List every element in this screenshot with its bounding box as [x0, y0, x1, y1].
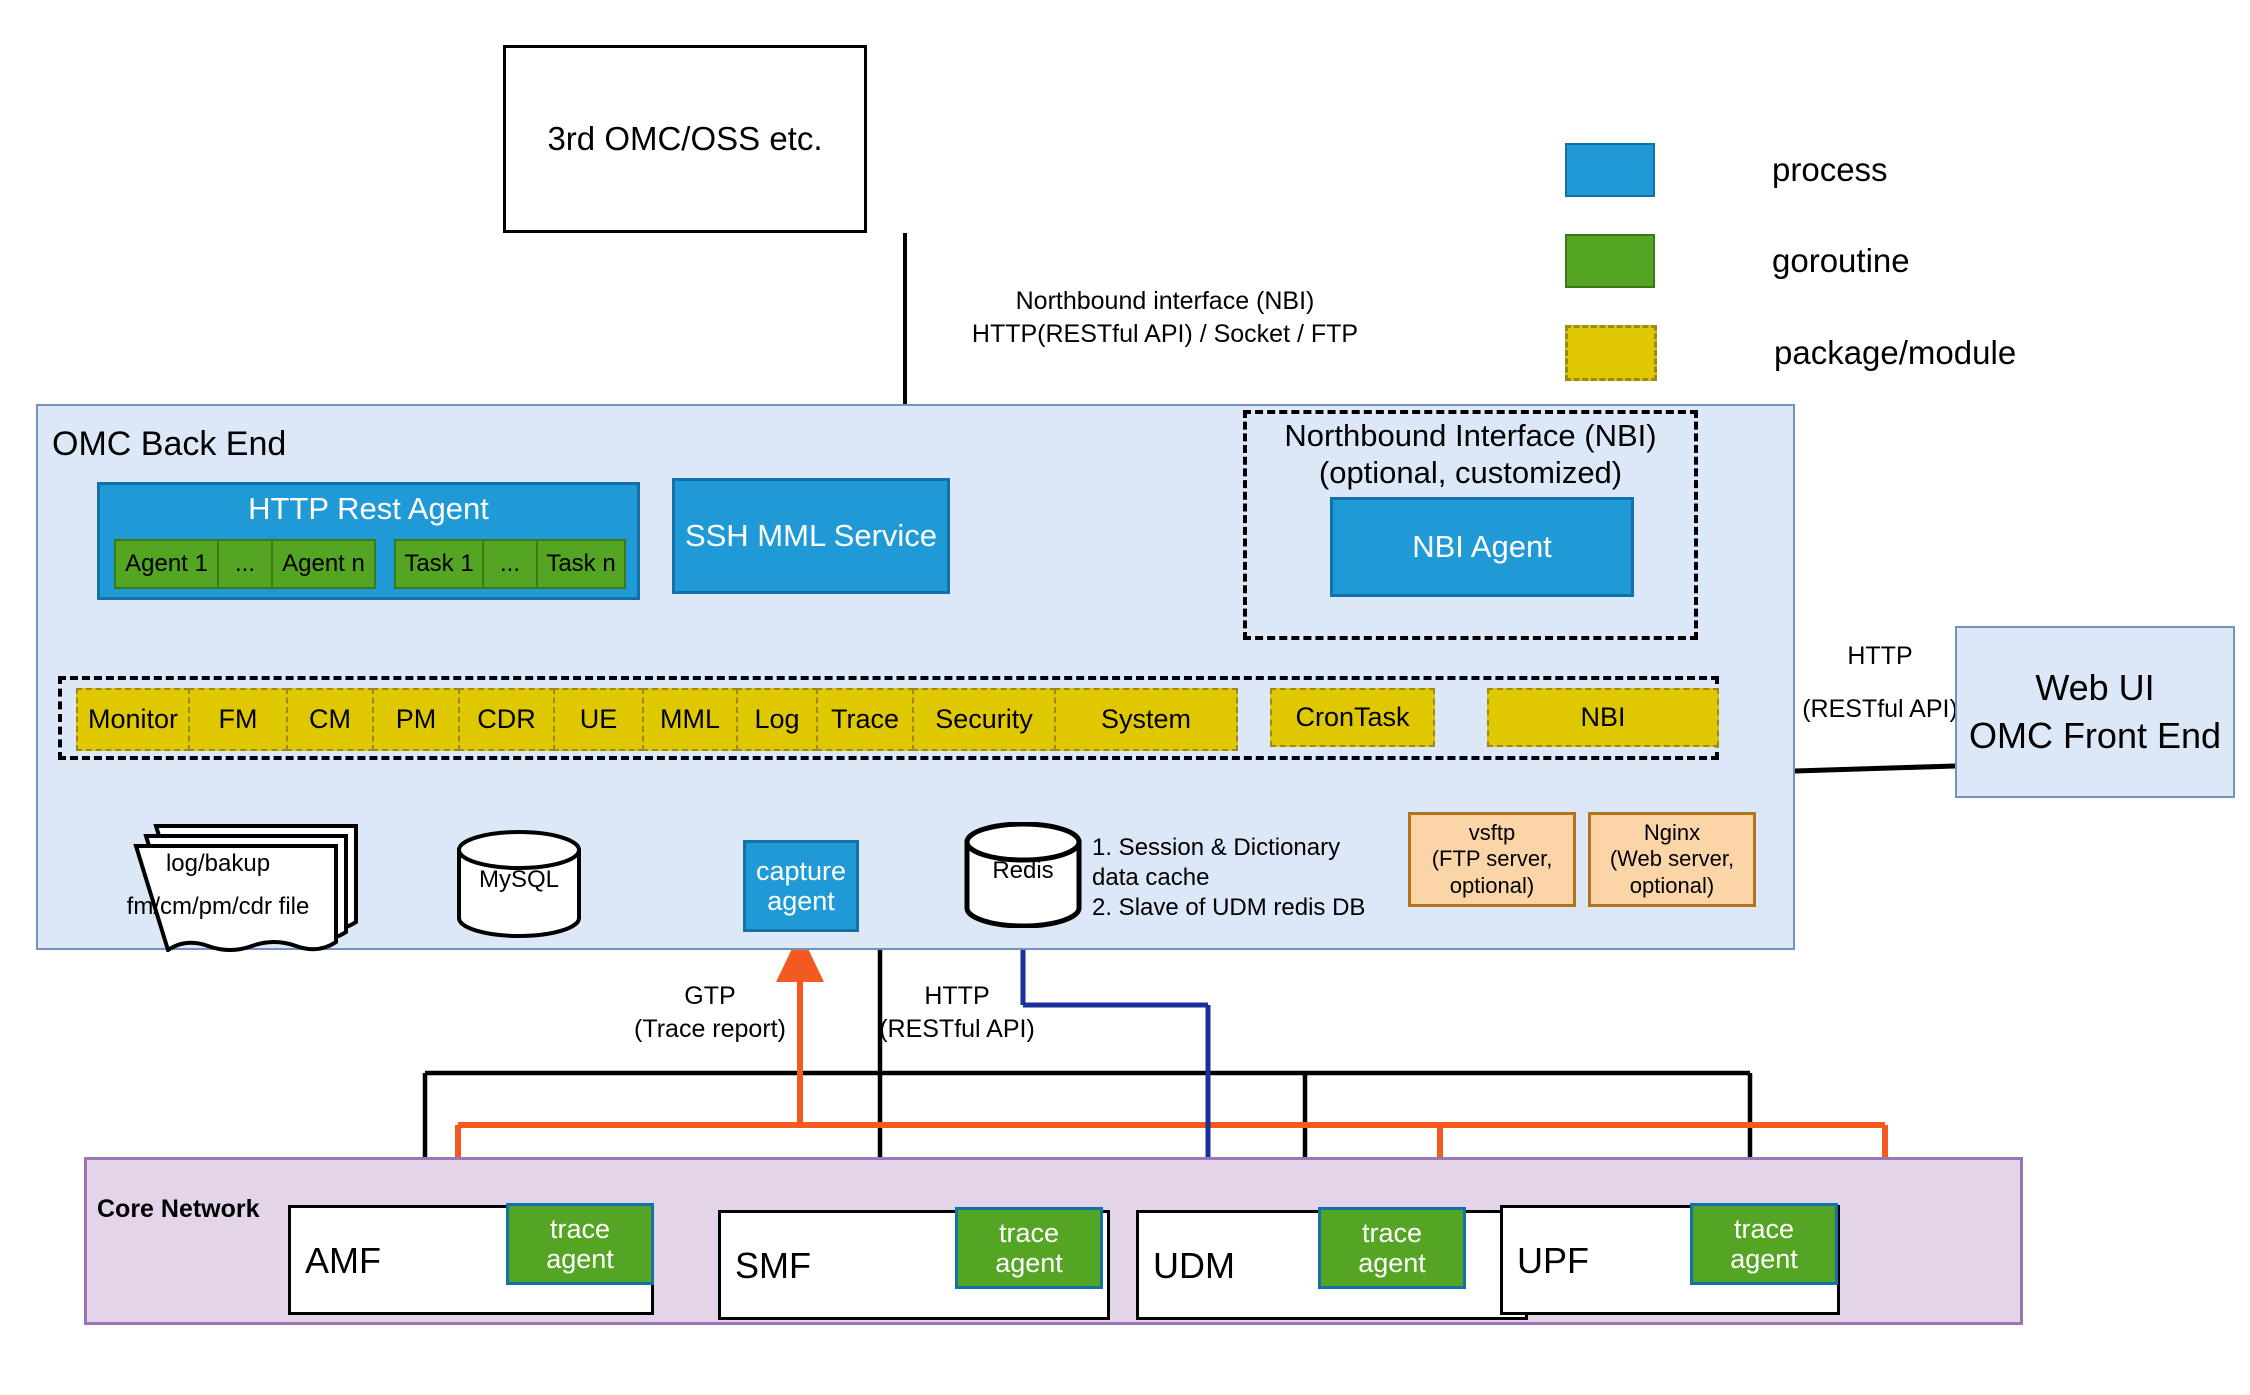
- external-oss-label: 3rd OMC/OSS etc.: [547, 120, 822, 158]
- http-rest-agent-groups: Agent 1 ... Agent n Task 1 ... Task n: [114, 539, 626, 589]
- web-ui-line2: OMC Front End: [1969, 715, 2221, 757]
- module-log[interactable]: Log: [736, 688, 818, 751]
- agent-item: ...: [217, 539, 273, 589]
- trace-agent-line1: trace: [550, 1214, 610, 1244]
- frontend-link-label: HTTP (RESTful API): [1800, 640, 1960, 725]
- frontend-link-line1: HTTP: [1800, 640, 1960, 673]
- legend-label-module: package/module: [1774, 334, 2016, 372]
- core-network-title: Core Network: [97, 1195, 260, 1224]
- module-crontask[interactable]: CronTask: [1270, 688, 1435, 747]
- nf-upf-label: UPF: [1517, 1240, 1589, 1282]
- nginx-desc2: optional): [1630, 873, 1714, 899]
- nbi-agent-box: NBI Agent: [1330, 497, 1634, 597]
- module-fm[interactable]: FM: [188, 688, 288, 751]
- http-rest-agent-box: HTTP Rest Agent Agent 1 ... Agent n Task…: [97, 482, 640, 600]
- http-link-label: HTTP (RESTful API): [862, 980, 1052, 1045]
- task-item: Task n: [536, 539, 626, 589]
- redis-note-line1: 1. Session & Dictionary: [1092, 833, 1402, 863]
- legend-item-goroutine: goroutine: [1565, 234, 2016, 288]
- module-security[interactable]: Security: [912, 688, 1056, 751]
- trace-agent-line2: agent: [995, 1248, 1063, 1278]
- trace-agent-line1: trace: [1734, 1214, 1794, 1244]
- gtp-line2: (Trace report): [620, 1013, 800, 1046]
- mysql-label: MySQL: [455, 866, 583, 894]
- trace-agent-line2: agent: [1358, 1248, 1426, 1278]
- task-item: ...: [482, 539, 538, 589]
- redis-label: Redis: [963, 857, 1083, 885]
- http-rest-agent-title: HTTP Rest Agent: [100, 485, 637, 533]
- trace-agent-line2: agent: [546, 1244, 614, 1274]
- agent-item: Agent n: [271, 539, 376, 589]
- module-pm[interactable]: PM: [372, 688, 460, 751]
- module-nbi[interactable]: NBI: [1487, 688, 1719, 747]
- redis-note-line2: data cache: [1092, 863, 1402, 893]
- web-ui-line1: Web UI: [2035, 667, 2154, 709]
- task-item: Task 1: [394, 539, 484, 589]
- nf-udm-label: UDM: [1153, 1245, 1235, 1287]
- frontend-link-line2: (RESTful API): [1800, 693, 1960, 726]
- web-ui-frontend-box: Web UI OMC Front End: [1955, 626, 2235, 798]
- capture-agent-box: capture agent: [743, 840, 859, 932]
- redis-note-line3: 2. Slave of UDM redis DB: [1092, 893, 1402, 923]
- omc-backend-title: OMC Back End: [52, 425, 286, 464]
- http-line1: HTTP: [862, 980, 1052, 1013]
- agent-group: Agent 1 ... Agent n: [114, 539, 376, 589]
- module-cdr[interactable]: CDR: [458, 688, 555, 751]
- ssh-mml-service-box: SSH MML Service: [672, 478, 950, 594]
- module-mml[interactable]: MML: [642, 688, 738, 751]
- task-group: Task 1 ... Task n: [394, 539, 626, 589]
- vsftp-box: vsftp (FTP server, optional): [1408, 812, 1576, 907]
- legend-item-module: package/module: [1565, 325, 2016, 381]
- capture-agent-line1: capture: [756, 856, 846, 886]
- nginx-name: Nginx: [1644, 820, 1700, 846]
- nbi-group-title-line2: (optional, customized): [1243, 455, 1698, 491]
- nbi-link-line2: HTTP(RESTful API) / Socket / FTP: [905, 318, 1425, 351]
- gtp-line1: GTP: [620, 980, 800, 1013]
- legend-item-process: process: [1565, 143, 2016, 197]
- trace-agent-line1: trace: [999, 1218, 1059, 1248]
- log-backup-line2: fm/cm/pm/cdr file: [90, 893, 346, 921]
- trace-agent-line1: trace: [1362, 1218, 1422, 1248]
- module-ue[interactable]: UE: [553, 688, 644, 751]
- log-backup-doc-stack: [130, 812, 390, 952]
- nbi-link-line1: Northbound interface (NBI): [905, 285, 1425, 318]
- trace-agent-smf: trace agent: [955, 1207, 1103, 1289]
- trace-agent-amf: trace agent: [506, 1203, 654, 1285]
- agent-item: Agent 1: [114, 539, 219, 589]
- nf-amf-label: AMF: [305, 1240, 381, 1282]
- nginx-box: Nginx (Web server, optional): [1588, 812, 1756, 907]
- trace-agent-line2: agent: [1730, 1244, 1798, 1274]
- capture-agent-line2: agent: [767, 886, 835, 916]
- nginx-desc1: (Web server,: [1610, 846, 1734, 872]
- legend-label-goroutine: goroutine: [1772, 242, 1910, 280]
- legend-swatch-process: [1565, 143, 1655, 197]
- http-line2: (RESTful API): [862, 1013, 1052, 1046]
- legend: process goroutine package/module: [1565, 143, 2016, 381]
- legend-swatch-goroutine: [1565, 234, 1655, 288]
- module-system[interactable]: System: [1054, 688, 1238, 751]
- log-backup-line1: log/bakup: [108, 850, 328, 878]
- trace-agent-udm: trace agent: [1318, 1207, 1466, 1289]
- nbi-group-title-line1: Northbound Interface (NBI): [1243, 418, 1698, 454]
- redis-note: 1. Session & Dictionary data cache 2. Sl…: [1092, 833, 1402, 924]
- nbi-link-label: Northbound interface (NBI) HTTP(RESTful …: [905, 285, 1425, 350]
- vsftp-name: vsftp: [1469, 820, 1515, 846]
- module-cm[interactable]: CM: [286, 688, 374, 751]
- gtp-link-label: GTP (Trace report): [620, 980, 800, 1045]
- external-oss-box: 3rd OMC/OSS etc.: [503, 45, 867, 233]
- legend-swatch-module: [1565, 325, 1657, 381]
- module-monitor[interactable]: Monitor: [76, 688, 190, 751]
- legend-label-process: process: [1772, 151, 1888, 189]
- module-bar-left: Monitor FM CM PM CDR UE MML Log Trace Se…: [76, 688, 1238, 751]
- nf-smf-label: SMF: [735, 1245, 811, 1287]
- vsftp-desc2: optional): [1450, 873, 1534, 899]
- trace-agent-upf: trace agent: [1690, 1203, 1838, 1285]
- module-trace[interactable]: Trace: [816, 688, 914, 751]
- vsftp-desc1: (FTP server,: [1432, 846, 1553, 872]
